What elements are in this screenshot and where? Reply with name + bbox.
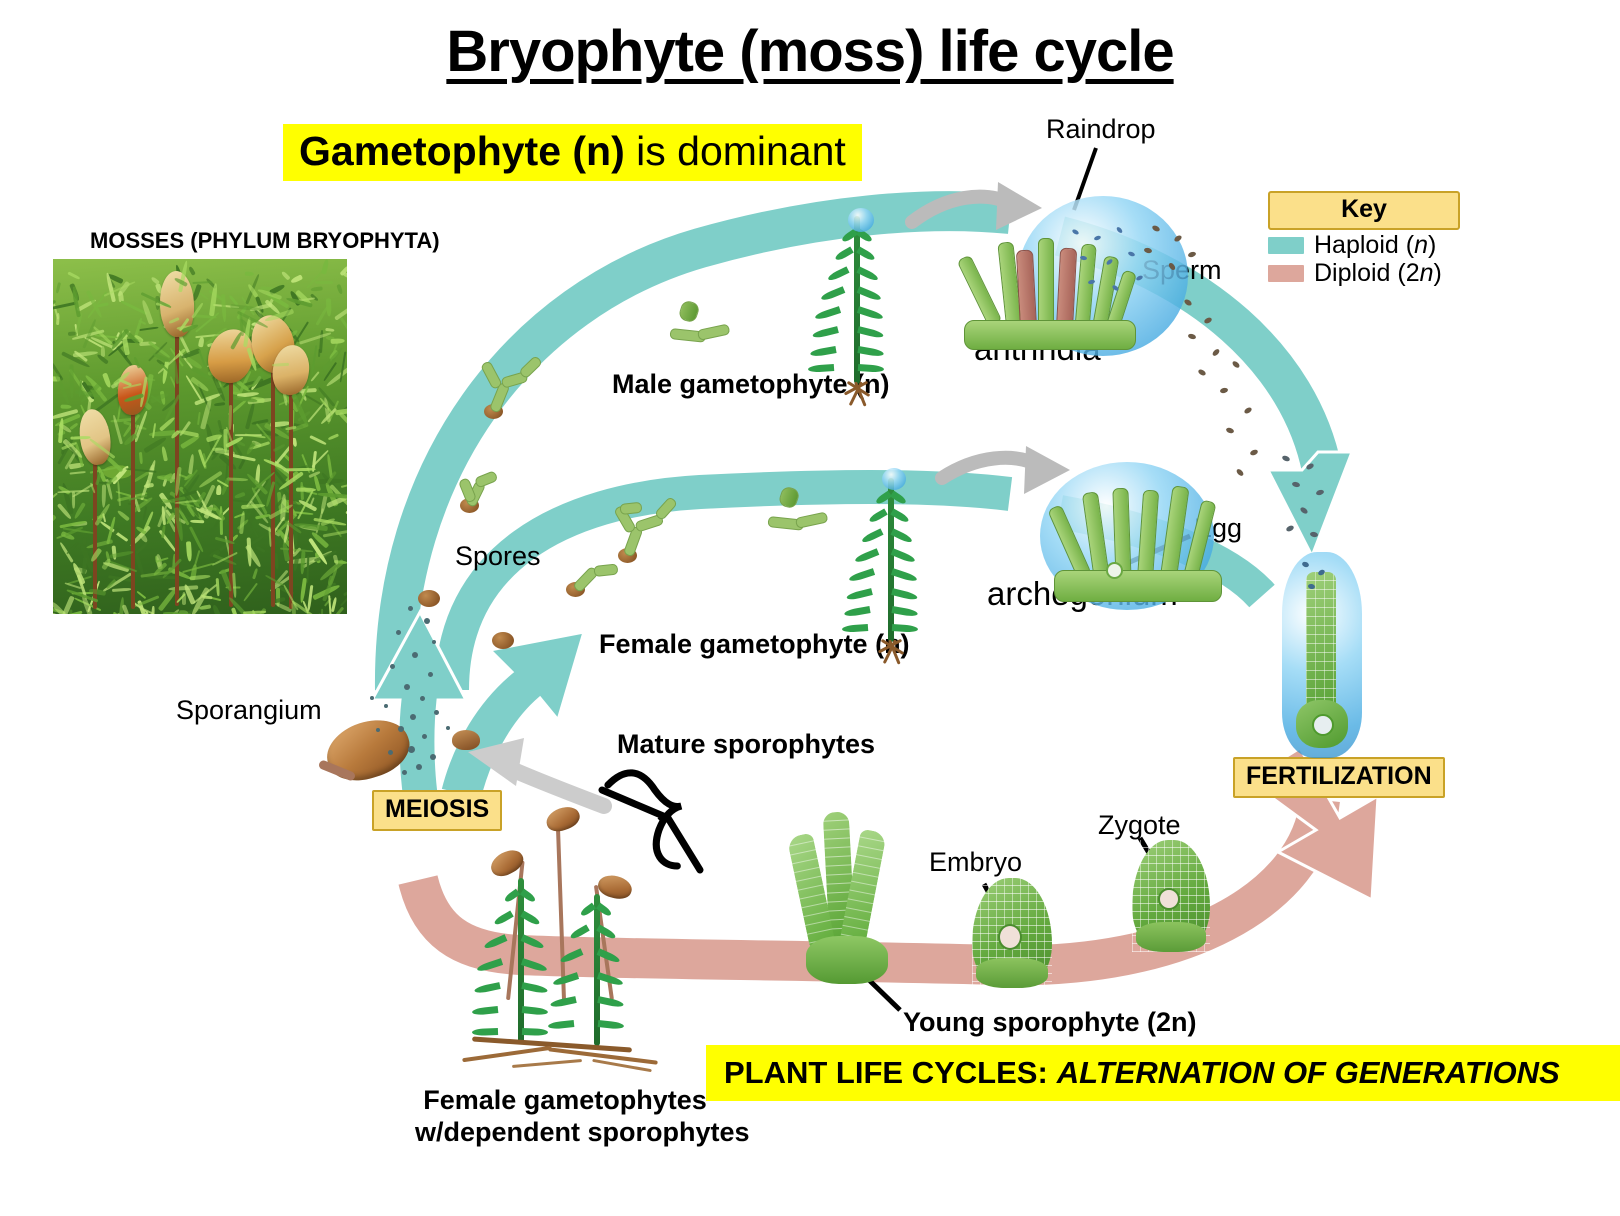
fem-gam-line2: w/dependent sporophytes [415,1117,715,1149]
protonema-outer-2 [478,348,570,424]
embryo-label: Embryo [929,847,1022,879]
banner-italic-part: ALTERNATION OF GENERATIONS [1057,1055,1560,1091]
free-sperm-specks [1128,222,1278,502]
young-sporophyte-label: Young sporophyte (2n) [903,1007,1196,1039]
spore-free-right [452,730,480,750]
male-gametophyte-plant [812,212,902,404]
raindrop-on-male-plant [848,208,874,232]
spore-on-outer-arrow [418,590,440,607]
embryo-venter [972,878,1052,988]
young-sporophyte-illustration [792,812,902,994]
plant-life-cycles-banner: PLANT LIFE CYCLES: ALTERNATION OF GENERA… [706,1045,1620,1101]
spores-label: Spores [455,541,541,573]
zygote-label: Zygote [1098,810,1181,842]
spore-on-inner-arrow [492,632,514,649]
protonema-outer-1 [448,452,518,516]
female-gametophyte-plant [846,474,936,662]
female-gametophytes-dependent-label: Female gametophytes w/dependent sporophy… [415,1085,715,1149]
archegonia-cluster [1046,474,1236,614]
sporangium-label: Sporangium [176,695,322,727]
egg-cell-in-archegonium [1106,562,1123,579]
sperm-on-descending-arrow [1272,452,1352,562]
raindrop-label: Raindrop [1046,114,1156,146]
bud-outer [664,306,740,346]
fem-gam-line1: Female gametophytes [415,1085,715,1117]
mature-sporophytes-label: Mature sporophytes [617,729,875,761]
spore-dust-cloud [362,600,482,780]
bud-inner [762,492,840,534]
raindrop-on-female-plant [882,468,906,490]
protonema-inner-2 [606,486,702,568]
life-cycle-diagram [0,0,1620,1216]
banner-bold-part: PLANT LIFE CYCLES: [724,1055,1048,1091]
rhizoid-mat [452,1036,702,1076]
fertilization-archegonium [1278,548,1368,764]
zygote-venter [1132,840,1210,952]
